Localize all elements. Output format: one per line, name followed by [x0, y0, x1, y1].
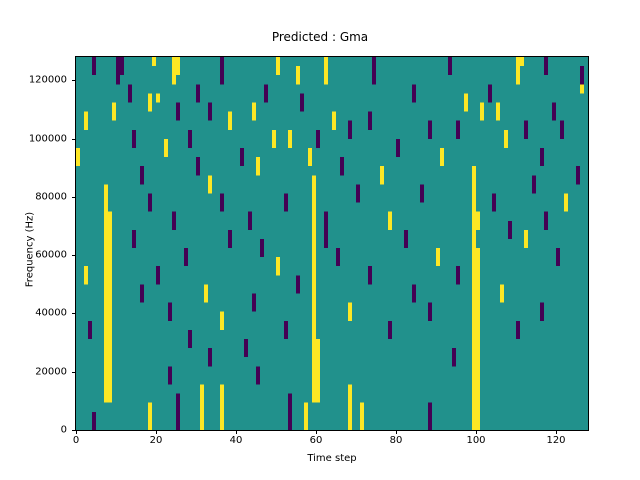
- y-tick-mark: [72, 313, 76, 314]
- x-tick-label: 40: [230, 435, 243, 446]
- x-tick-label: 120: [546, 435, 565, 446]
- x-tick-label: 100: [466, 435, 485, 446]
- y-axis-tick-labels: 020000400006000080000100000120000: [0, 0, 67, 480]
- x-tick-mark: [156, 430, 157, 434]
- heatmap-image: [76, 57, 588, 430]
- y-tick-mark: [72, 197, 76, 198]
- y-tick-label: 20000: [35, 366, 67, 377]
- x-tick-mark: [476, 430, 477, 434]
- y-tick-mark: [72, 139, 76, 140]
- y-tick-label: 40000: [35, 308, 67, 319]
- x-tick-label: 20: [150, 435, 163, 446]
- x-tick-mark: [556, 430, 557, 434]
- x-tick-mark: [396, 430, 397, 434]
- y-tick-mark: [72, 372, 76, 373]
- x-axis-label: Time step: [76, 453, 588, 464]
- y-tick-mark: [72, 255, 76, 256]
- y-tick-label: 60000: [35, 250, 67, 261]
- x-tick-label: 60: [310, 435, 323, 446]
- y-tick-label: 80000: [35, 191, 67, 202]
- y-tick-mark: [72, 80, 76, 81]
- y-tick-label: 100000: [29, 133, 67, 144]
- heatmap-plot-area[interactable]: [75, 56, 589, 431]
- x-tick-mark: [236, 430, 237, 434]
- chart-title: Predicted : Gma: [0, 30, 640, 44]
- y-tick-label: 0: [61, 425, 67, 436]
- y-tick-label: 120000: [29, 75, 67, 86]
- x-tick-mark: [76, 430, 77, 434]
- x-tick-mark: [316, 430, 317, 434]
- figure-canvas: Predicted : Gma Frequency (Hz) 020000400…: [0, 0, 640, 480]
- x-tick-label: 80: [390, 435, 403, 446]
- x-tick-label: 0: [73, 435, 79, 446]
